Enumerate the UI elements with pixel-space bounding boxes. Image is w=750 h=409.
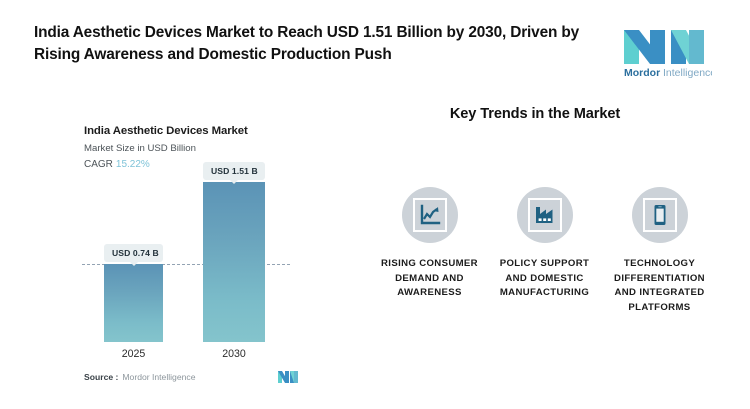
bar-chart-plot: USD 0.74 B USD 1.51 B 2025 2030 [0,92,360,409]
trend-icon-circle [517,187,573,243]
trend-icon-circle [632,187,688,243]
logo-wordmark-bold: Mordor [624,67,660,79]
source-value: Mordor Intelligence [122,372,195,382]
page-header: India Aesthetic Devices Market to Reach … [0,0,750,92]
source-label: Source : [84,372,118,382]
bar-2030 [203,182,265,342]
x-axis-label-2025: 2025 [104,348,163,360]
page-title: India Aesthetic Devices Market to Reach … [34,22,614,66]
trend-label: RISING CONSUMER DEMAND AND AWARENESS [374,257,486,301]
mordor-intelligence-mark-icon [277,370,299,384]
bar-2025 [104,264,163,342]
bar-value-label-2030: USD 1.51 B [203,162,265,180]
key-trends-list: RISING CONSUMER DEMAND AND AWARENESS POL… [372,187,744,315]
trend-card-rising-consumer-demand: RISING CONSUMER DEMAND AND AWARENESS [372,187,487,315]
factory-icon [528,198,562,232]
trend-card-technology-differentiation: TECHNOLOGY DIFFERENTIATION AND INTEGRATE… [602,187,717,315]
key-trends-panel: Key Trends in the Market RISING CONSUMER… [360,92,750,409]
trend-label: TECHNOLOGY DIFFERENTIATION AND INTEGRATE… [604,257,716,315]
trend-card-policy-support: POLICY SUPPORT AND DOMESTIC MANUFACTURIN… [487,187,602,315]
key-trends-title: Key Trends in the Market [360,106,710,122]
growth-chart-icon [413,198,447,232]
market-size-chart-panel: India Aesthetic Devices Market Market Si… [0,92,360,409]
smartphone-icon [643,198,677,232]
mordor-intelligence-logo: Mordor Intelligence [620,24,712,80]
chart-source: Source : Mordor Intelligence [84,370,299,384]
trend-icon-circle [402,187,458,243]
x-axis-label-2030: 2030 [203,348,265,360]
trend-label: POLICY SUPPORT AND DOMESTIC MANUFACTURIN… [489,257,601,301]
logo-wordmark-light: Intelligence [663,67,712,79]
bar-value-label-2025: USD 0.74 B [104,244,163,262]
